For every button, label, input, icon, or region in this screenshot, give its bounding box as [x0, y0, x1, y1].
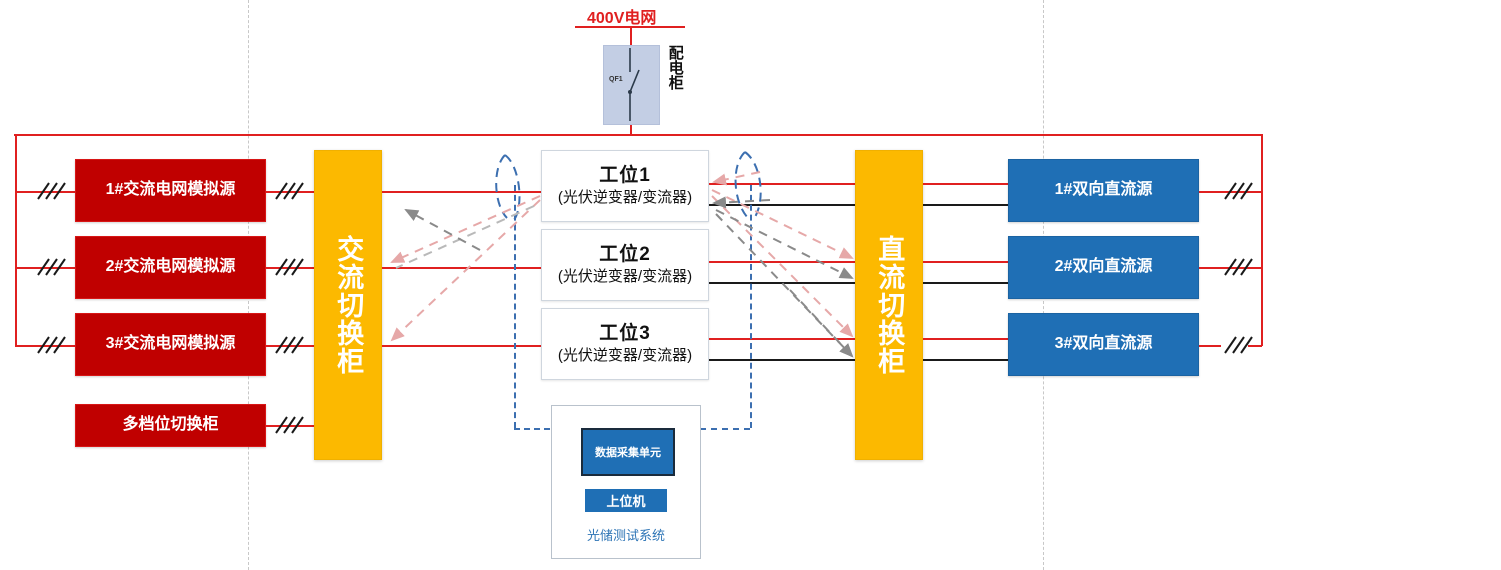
comm-line-right-vertical [750, 185, 752, 428]
dc-bus-branch-2 [1199, 267, 1262, 269]
ac-source-box-2[interactable]: 2#交流电网模拟源 [75, 236, 266, 299]
comm-line-left-horizontal [514, 428, 550, 430]
left-bus-riser [15, 134, 17, 346]
ac-ws-wire-3 [382, 345, 542, 347]
workstation-subtitle-3: (光伏逆变器/变流器) [558, 347, 692, 365]
dc-bus-branch-3b [1248, 345, 1262, 347]
dc-ws-wire-pos-2 [709, 261, 857, 263]
comm-line-right-horizontal [700, 428, 750, 430]
ac-ws-wire-2 [382, 267, 542, 269]
workstation-title-3: 工位3 [599, 323, 651, 345]
multi-gear-out [266, 425, 314, 427]
dc-ws-wire-pos-3 [709, 338, 857, 340]
ac-source-label-3: 3#交流电网模拟源 [106, 335, 236, 354]
workstation-box-3[interactable]: 工位3 (光伏逆变器/变流器) [541, 308, 709, 380]
breaker-tag-label: QF1 [609, 76, 623, 83]
right-bus-riser [1261, 134, 1263, 346]
dc-source-label-3: 3#双向直流源 [1055, 335, 1153, 354]
workstation-title-1: 工位1 [599, 165, 651, 187]
test-system-label: 光储测试系统 [552, 525, 700, 544]
ac-branch-3 [15, 345, 75, 347]
dc-ws-wire-neg-2 [709, 282, 857, 284]
dc-src-wire-pos-1 [923, 183, 1008, 185]
host-computer-box[interactable]: 上位机 [585, 489, 667, 512]
workstation-title-2: 工位2 [599, 244, 651, 266]
comm-line-left-vertical [514, 185, 516, 428]
ac-out-3 [266, 345, 314, 347]
ac-source-box-1[interactable]: 1#交流电网模拟源 [75, 159, 266, 222]
ac-ws-wire-1 [382, 191, 542, 193]
main-ac-bus [14, 134, 1262, 136]
ac-switch-cabinet-box[interactable]: 交流切换柜 [314, 150, 382, 460]
dc-ws-wire-neg-1 [709, 204, 857, 206]
ac-switch-cabinet-label: 交流切换柜 [334, 235, 363, 375]
ac-source-box-3[interactable]: 3#交流电网模拟源 [75, 313, 266, 376]
dc-ws-wire-pos-1 [709, 183, 857, 185]
dc-source-box-1[interactable]: 1#双向直流源 [1008, 159, 1199, 222]
data-acquisition-unit-box[interactable]: 数据采集单元 [581, 428, 675, 476]
data-acquisition-unit-label: 数据采集单元 [595, 444, 661, 460]
distribution-cabinet-body [603, 45, 660, 125]
host-computer-label: 上位机 [606, 491, 645, 510]
multi-gear-cabinet-label: 多档位切换柜 [122, 416, 218, 435]
dc-source-box-2[interactable]: 2#双向直流源 [1008, 236, 1199, 299]
distribution-cabinet-label: 配电柜 [665, 45, 684, 90]
dc-bus-branch-3a [1199, 345, 1221, 347]
dc-source-label-1: 1#双向直流源 [1055, 181, 1153, 200]
dc-src-wire-neg-1 [923, 204, 1008, 206]
workstation-subtitle-1: (光伏逆变器/变流器) [558, 189, 692, 207]
ac-source-label-1: 1#交流电网模拟源 [106, 181, 236, 200]
dc-src-wire-neg-2 [923, 282, 1008, 284]
ac-branch-2 [15, 267, 75, 269]
workstation-box-2[interactable]: 工位2 (光伏逆变器/变流器) [541, 229, 709, 301]
dc-src-wire-neg-3 [923, 359, 1008, 361]
test-system-group: 数据采集单元 上位机 光储测试系统 [551, 405, 701, 559]
dc-source-box-3[interactable]: 3#双向直流源 [1008, 313, 1199, 376]
grid-voltage-label: 400V电网 [587, 4, 656, 28]
ac-branch-1 [15, 191, 75, 193]
multi-gear-cabinet-box[interactable]: 多档位切换柜 [75, 404, 266, 447]
diagram-canvas: 400V电网 QF1 配电柜 1#交流电网模拟源 2#交流电网模拟源 3#交流电… [0, 0, 1501, 570]
dc-ws-wire-neg-3 [709, 359, 857, 361]
workstation-box-1[interactable]: 工位1 (光伏逆变器/变流器) [541, 150, 709, 222]
dc-src-wire-pos-2 [923, 261, 1008, 263]
dc-source-label-2: 2#双向直流源 [1055, 258, 1153, 277]
ac-out-1 [266, 191, 314, 193]
dc-bus-branch-1 [1199, 191, 1262, 193]
ac-out-2 [266, 267, 314, 269]
dc-switch-cabinet-label: 直流切换柜 [875, 235, 904, 375]
workstation-subtitle-2: (光伏逆变器/变流器) [558, 268, 692, 286]
dc-src-wire-pos-3 [923, 338, 1008, 340]
dc-switch-cabinet-box[interactable]: 直流切换柜 [855, 150, 923, 460]
ac-source-label-2: 2#交流电网模拟源 [106, 258, 236, 277]
